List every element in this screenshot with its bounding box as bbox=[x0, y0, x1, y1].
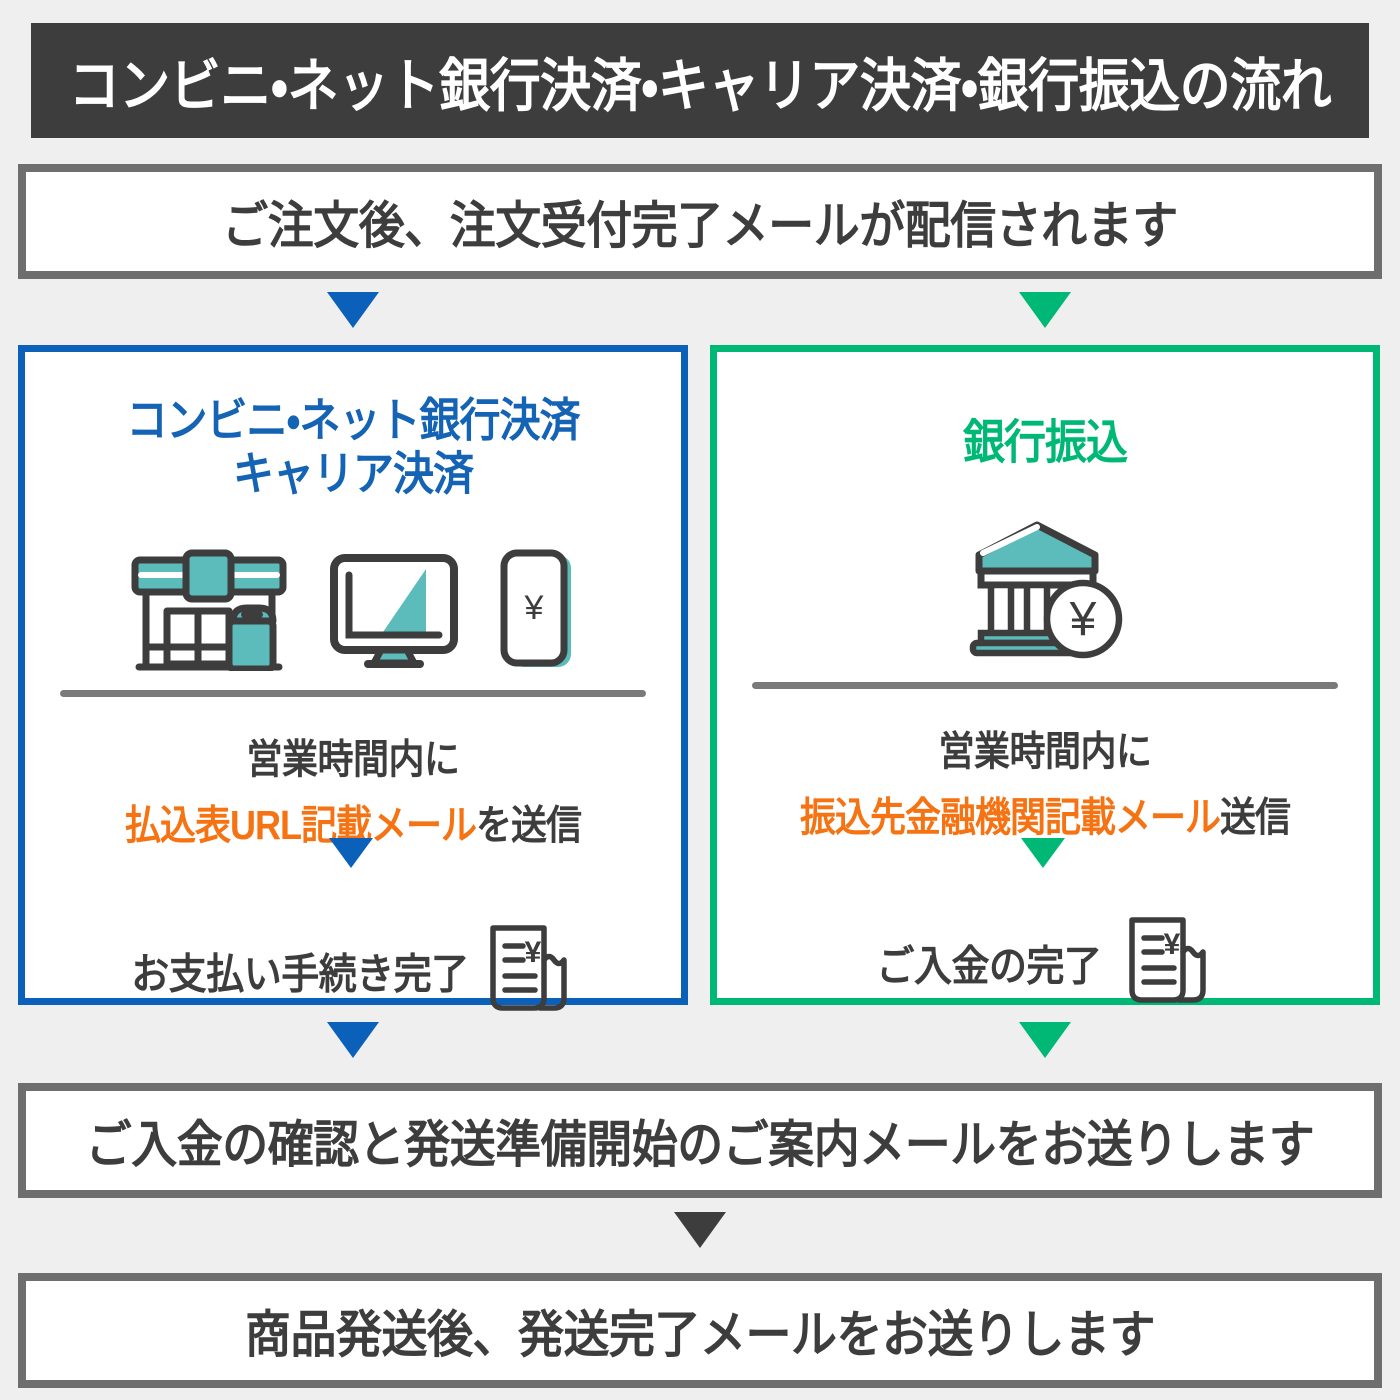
arrow-down-from-conveni-icon bbox=[327, 1022, 379, 1058]
step-payment-confirm-text: ご入金の確認と発送準備開始のご案内メールをお送りします bbox=[86, 1104, 1315, 1177]
arrow-down-to-conveni-icon bbox=[327, 292, 379, 328]
panel-bank-notice-line1: 営業時間内に bbox=[717, 718, 1373, 776]
svg-text:¥: ¥ bbox=[524, 936, 541, 969]
panel-conveni-divider bbox=[60, 690, 646, 697]
panel-conveni-result-label: お支払い手続き完了 bbox=[131, 940, 469, 1001]
desktop-monitor-icon bbox=[329, 553, 459, 676]
page-title: コンビニ・ネット銀行決済・キャリア決済・銀行振込の流れ bbox=[31, 23, 1369, 138]
panel-conveni-icon-row: ¥ bbox=[25, 526, 681, 676]
panel-bank-icon-row: ¥ bbox=[717, 514, 1373, 664]
panel-bank-notice-suffix: 送信 bbox=[1220, 793, 1290, 839]
page-title-text: コンビニ・ネット銀行決済・キャリア決済・銀行振込の流れ bbox=[69, 39, 1332, 122]
panel-bank-title: 銀行振込 bbox=[717, 415, 1373, 470]
panel-conveni-payment: コンビニ・ネット銀行決済 キャリア決済 bbox=[18, 345, 688, 1005]
arrow-down-conveni-result-icon bbox=[329, 838, 373, 868]
invoice-receipt-icon: ¥ bbox=[483, 920, 575, 1021]
payment-flow-diagram: コンビニ・ネット銀行決済・キャリア決済・銀行振込の流れ ご注文後、注文受付完了メ… bbox=[0, 0, 1400, 1400]
panel-conveni-notice-highlight: 払込表URL記載メール bbox=[125, 802, 476, 848]
svg-text:¥: ¥ bbox=[524, 589, 544, 627]
step-shipped-box: 商品発送後、発送完了メールをお送りします bbox=[18, 1273, 1382, 1388]
panel-bank-transfer: 銀行振込 ¥ bbox=[710, 345, 1380, 1005]
arrow-down-to-bank-icon bbox=[1019, 292, 1071, 328]
svg-text:¥: ¥ bbox=[1069, 593, 1097, 646]
panel-bank-result-row: ご入金の完了 ¥ bbox=[717, 912, 1373, 1013]
smartphone-yen-icon: ¥ bbox=[499, 549, 577, 676]
panel-bank-divider bbox=[752, 682, 1338, 689]
panel-conveni-title: コンビニ・ネット銀行決済 キャリア決済 bbox=[25, 393, 681, 501]
panel-conveni-notice-suffix: を送信 bbox=[476, 802, 581, 848]
convenience-store-icon bbox=[129, 549, 289, 676]
arrow-down-from-bank-icon bbox=[1019, 1022, 1071, 1058]
invoice-receipt-icon: ¥ bbox=[1122, 912, 1214, 1013]
step-order-mail-text: ご注文後、注文受付完了メールが配信されます bbox=[222, 185, 1178, 258]
svg-text:¥: ¥ bbox=[1163, 928, 1180, 961]
panel-bank-result-label: ご入金の完了 bbox=[876, 932, 1101, 993]
step-order-mail-box: ご注文後、注文受付完了メールが配信されます bbox=[18, 164, 1382, 279]
step-shipped-text: 商品発送後、発送完了メールをお送りします bbox=[245, 1294, 1155, 1367]
panel-bank-notice-highlight: 振込先金融機関記載メール bbox=[800, 793, 1220, 839]
bank-building-yen-icon: ¥ bbox=[965, 519, 1125, 664]
panel-bank-notice-line2: 振込先金融機関記載メール送信 bbox=[717, 784, 1373, 842]
panel-conveni-result-row: お支払い手続き完了 ¥ bbox=[25, 920, 681, 1021]
arrow-down-to-shipped-icon bbox=[674, 1212, 726, 1248]
panel-conveni-notice-line1: 営業時間内に bbox=[25, 727, 681, 785]
arrow-down-bank-result-icon bbox=[1021, 838, 1065, 868]
step-payment-confirm-box: ご入金の確認と発送準備開始のご案内メールをお送りします bbox=[18, 1083, 1382, 1198]
